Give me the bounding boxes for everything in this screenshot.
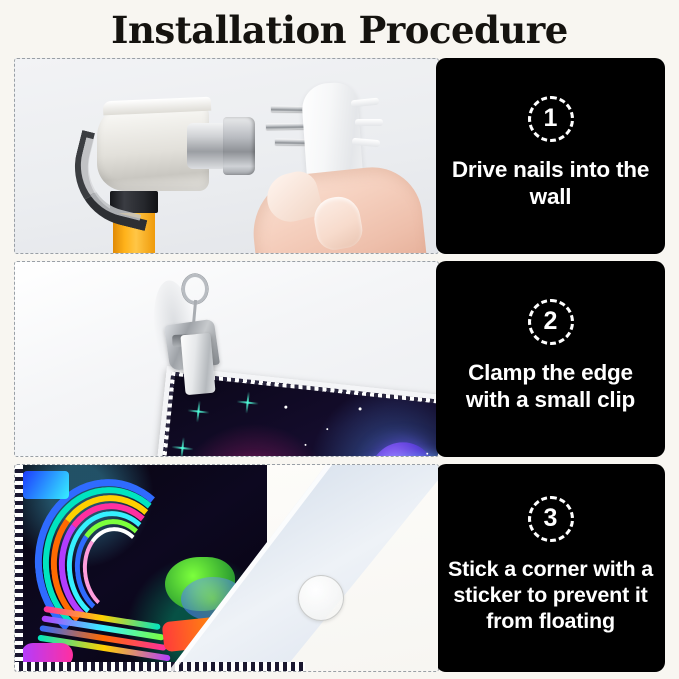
step-2-photo <box>14 261 439 457</box>
planet <box>367 439 439 457</box>
helmet-visor <box>23 471 69 499</box>
procedure-row-3: 3 Stick a corner with a sticker to preve… <box>14 464 665 672</box>
step-2-card: 2 Clamp the edge with a small clip <box>436 261 665 457</box>
hammer-head <box>69 97 255 197</box>
sparkle-icon <box>180 437 184 457</box>
step-number-badge-icon: 1 <box>528 96 574 142</box>
procedure-row-2: 2 Clamp the edge with a small clip <box>14 261 665 457</box>
star <box>326 428 328 430</box>
step-1-photo <box>14 58 439 254</box>
step-1-text: Drive nails into the wall <box>444 156 657 211</box>
clip-body <box>180 333 215 395</box>
hammer-head-neck <box>187 123 227 169</box>
hammer-striking-face <box>223 117 255 175</box>
step-3-card: 3 Stick a corner with a sticker to preve… <box>436 464 665 672</box>
star <box>284 406 287 409</box>
tapestry-stitched-left-edge <box>15 465 23 671</box>
star <box>304 444 306 446</box>
tapestry-stitched-bottom-edge <box>15 662 305 671</box>
sparkle-icon <box>245 392 249 414</box>
tapestry-stitched-left-edge <box>150 371 176 457</box>
nail-holder-prong <box>355 119 383 126</box>
star <box>358 407 361 410</box>
step-3-photo <box>14 464 439 672</box>
nail-holder-prong <box>351 98 380 108</box>
step-number-badge-icon: 3 <box>528 496 574 542</box>
step-number-badge-icon: 2 <box>528 299 574 345</box>
procedure-row-1: 1 Drive nails into the wall <box>14 58 665 254</box>
sparkle-icon <box>196 400 200 422</box>
step-1-card: 1 Drive nails into the wall <box>436 58 665 254</box>
step-2-text: Clamp the edge with a small clip <box>444 359 657 414</box>
page-title: Installation Procedure <box>0 6 679 54</box>
adhesive-sticker <box>298 575 344 621</box>
step-3-text: Stick a corner with a sticker to prevent… <box>444 556 657 635</box>
hammer-claw <box>69 139 145 217</box>
